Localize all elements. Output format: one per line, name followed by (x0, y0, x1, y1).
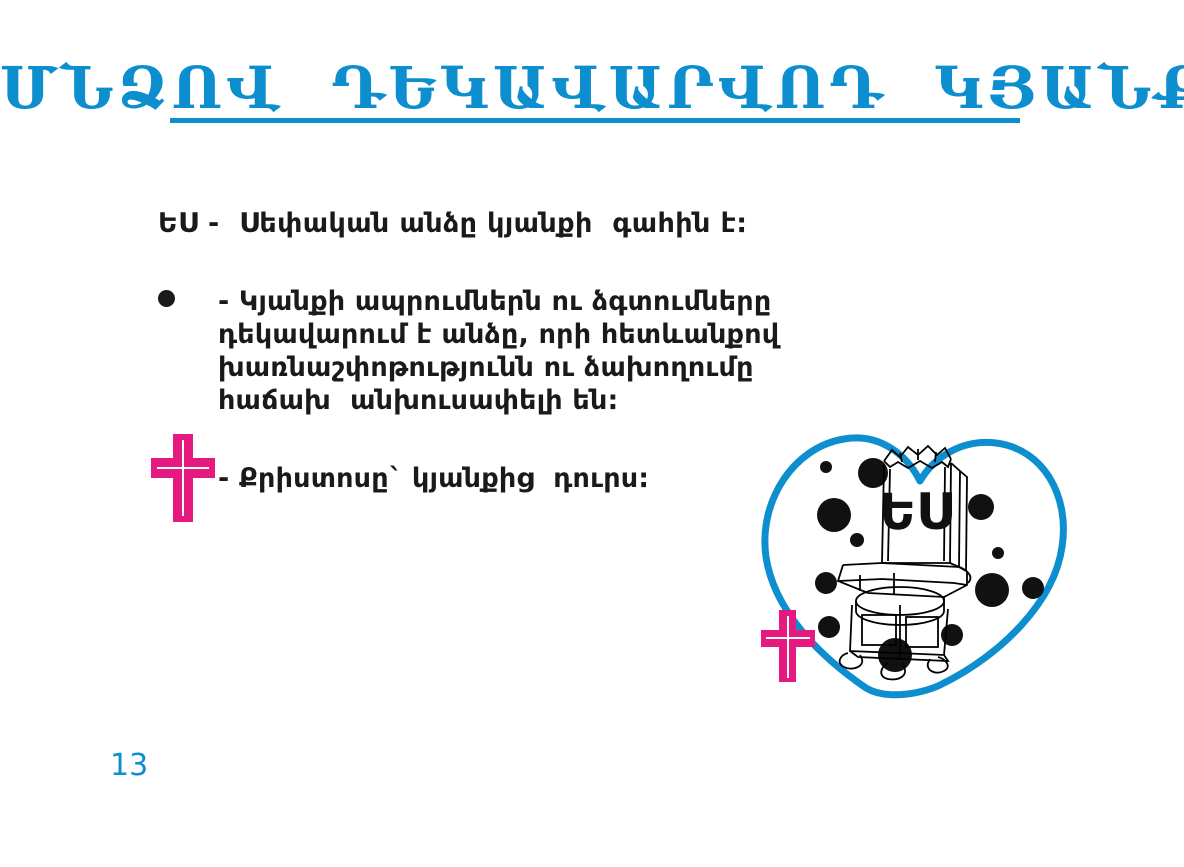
page-number: 13 (110, 748, 148, 783)
bullet-paragraph-line-2: դեկավարում է անձը, որի հետևանքով (218, 318, 878, 351)
throne-label: ԵՍ (880, 483, 953, 541)
second-statement: - Քրիստոսը` կյանքից դուրս: (218, 463, 649, 494)
cross-icon (145, 432, 221, 524)
title-underline-rule (170, 118, 1020, 123)
lead-statement: ԵՍ - Սեփական անձը կյանքի գահին է: (158, 208, 747, 239)
page-title: ՄՆՁՈՎ ԴԵԿԱՎԱՐՎՈԴ ԿՅԱՆՔ (0, 58, 1184, 119)
cross-icon (757, 608, 819, 684)
bullet-dot-icon (158, 290, 175, 307)
bullet-paragraph: - Կյանքի ապրումներն ու ձգտումները դեկավա… (218, 285, 878, 417)
bullet-paragraph-line-1: - Կյանքի ապրումներն ու ձգտումները (218, 285, 878, 318)
bullet-paragraph-line-3: խառնաշփոթությունն ու ձախողումը (218, 351, 878, 384)
